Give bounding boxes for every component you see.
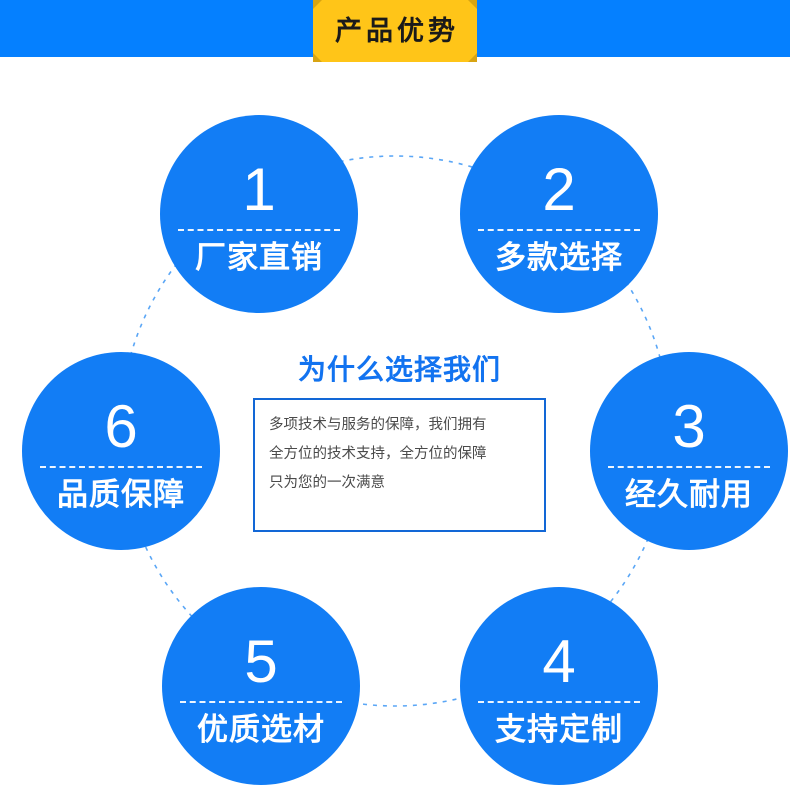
advantage-label: 多款选择 [495,242,623,275]
divider-dashed [478,229,640,231]
ribbon-corner-bottom-left-icon [313,53,322,62]
advantage-label: 优质选材 [197,714,325,747]
advantage-node-4[interactable]: 4 支持定制 [460,587,658,785]
description-line: 只为您的一次满意 [269,469,530,498]
advantages-diagram: 1 厂家直销 2 多款选择 3 经久耐用 4 支持定制 5 优质选材 6 品质保… [0,63,790,801]
description-line: 全方位的技术支持，全方位的保障 [269,440,530,469]
advantage-number: 1 [242,160,275,220]
ribbon-corner-top-right-icon [468,0,477,9]
advantage-node-6[interactable]: 6 品质保障 [22,352,220,550]
advantage-number: 3 [672,397,705,457]
advantage-node-1[interactable]: 1 厂家直销 [160,115,358,313]
advantage-label: 厂家直销 [195,242,323,275]
ribbon-corner-bottom-right-icon [468,53,477,62]
advantage-number: 2 [542,160,575,220]
advantage-label: 经久耐用 [625,479,753,512]
advantage-number: 4 [542,632,575,692]
divider-dashed [178,229,340,231]
description-line: 多项技术与服务的保障，我们拥有 [269,411,530,440]
center-heading: 为什么选择我们 [253,356,546,384]
advantage-label: 支持定制 [495,714,623,747]
advantage-label: 品质保障 [57,479,185,512]
page-title: 产品优势 [331,18,459,45]
divider-dashed [608,466,770,468]
advantage-node-3[interactable]: 3 经久耐用 [590,352,788,550]
divider-dashed [40,466,202,468]
center-description-box: 多项技术与服务的保障，我们拥有 全方位的技术支持，全方位的保障 只为您的一次满意 [253,398,546,532]
divider-dashed [180,701,342,703]
divider-dashed [478,701,640,703]
ribbon-corner-top-left-icon [313,0,322,9]
advantage-number: 5 [244,632,277,692]
header-ribbon-banner: 产品优势 [313,0,477,62]
advantage-node-2[interactable]: 2 多款选择 [460,115,658,313]
advantage-node-5[interactable]: 5 优质选材 [162,587,360,785]
page-header: 产品优势 [0,0,790,63]
center-content: 为什么选择我们 多项技术与服务的保障，我们拥有 全方位的技术支持，全方位的保障 … [253,356,546,532]
advantage-number: 6 [104,397,137,457]
